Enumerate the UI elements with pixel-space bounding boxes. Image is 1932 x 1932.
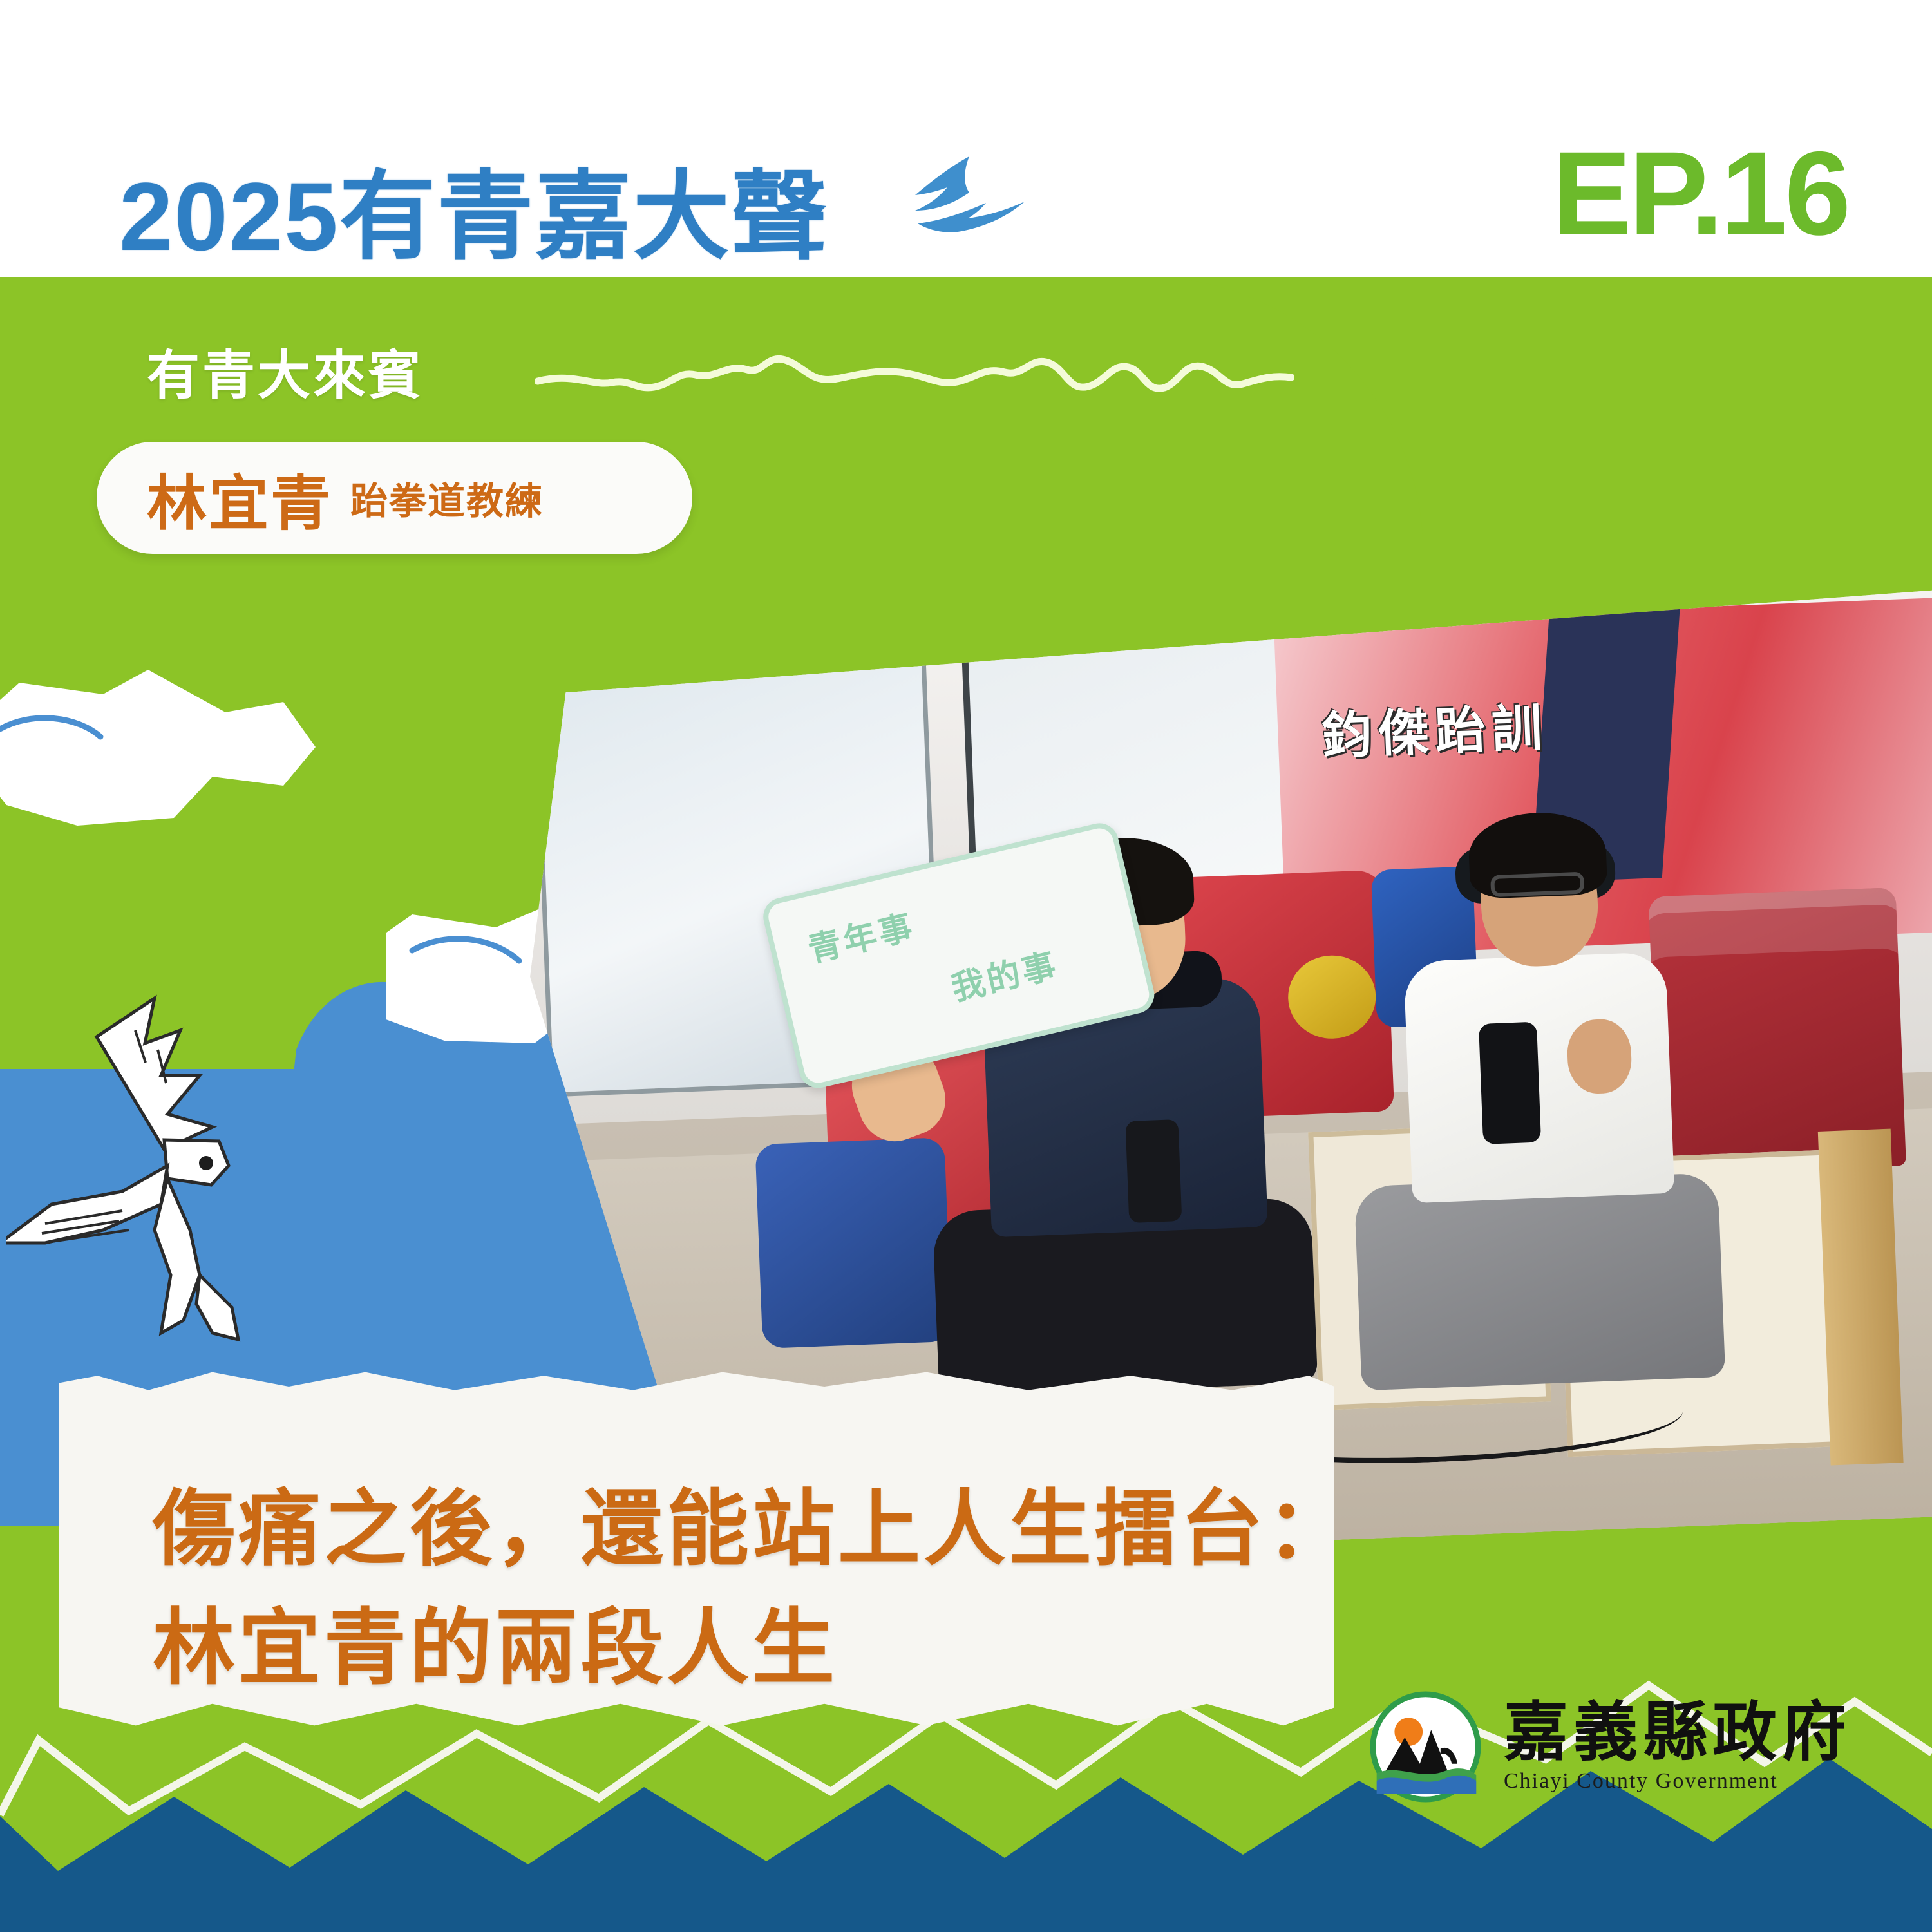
- guest-name-pill: 林宜青 跆拳道教練: [97, 442, 692, 554]
- blue-gear-bag-1: [755, 1137, 952, 1349]
- chiayi-county-emblem-icon: [1369, 1690, 1482, 1803]
- host-right-microphone: [1479, 1022, 1542, 1145]
- episode-title-card: 傷痛之後，還能站上人生擂台： 林宜青的兩段人生: [59, 1368, 1334, 1729]
- sign-text-top: 青年事: [802, 900, 919, 971]
- episode-title-line-1: 傷痛之後，還能站上人生擂台：: [153, 1462, 1352, 1581]
- host-right-glasses: [1490, 871, 1584, 897]
- show-title: 2025有青嘉大聲: [119, 138, 829, 278]
- logo-chinese-name: 嘉義縣政府: [1504, 1701, 1851, 1765]
- guest-left-microphone: [1126, 1119, 1182, 1223]
- egret-bird-icon: [6, 972, 303, 1346]
- swallow-icon: [873, 151, 1034, 235]
- host-right-thumbs-up: [1566, 1018, 1633, 1095]
- logo-english-name: Chiayi County Government: [1504, 1769, 1851, 1794]
- sign-text-bottom: 我的事: [946, 938, 1063, 1009]
- gym-banner-text: 鈞傑跆訓: [1320, 687, 1549, 768]
- podcast-episode-poster: 有青大來賓 林宜青 跆拳道教練 鈞傑跆訓: [0, 0, 1932, 1932]
- poster-top-bar: 2025有青嘉大聲 EP.16: [0, 0, 1932, 277]
- county-government-logo: 嘉義縣政府 Chiayi County Government: [1369, 1690, 1851, 1803]
- episode-title-line-2: 林宜青的兩段人生: [153, 1581, 838, 1700]
- logo-text-block: 嘉義縣政府 Chiayi County Government: [1504, 1701, 1851, 1794]
- guest-name: 林宜青: [147, 455, 332, 542]
- host-right-body: [1403, 952, 1674, 1203]
- episode-number: EP.16: [1552, 126, 1848, 262]
- squiggle-line-icon: [535, 341, 1294, 412]
- cloud-icon-left: [0, 657, 341, 876]
- wooden-easel: [1818, 1129, 1904, 1465]
- guest-role: 跆拳道教練: [350, 471, 544, 525]
- guest-section-label: 有青大來賓: [147, 332, 424, 409]
- host-right-legs: [1354, 1173, 1725, 1390]
